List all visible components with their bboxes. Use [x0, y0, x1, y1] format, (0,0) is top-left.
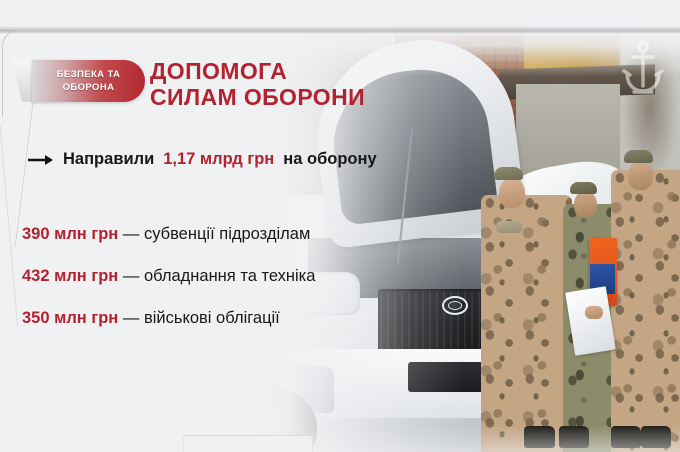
- photo-soldier-3: [611, 170, 680, 452]
- list-item: 432 млн грн — обладнання та техніка: [22, 266, 315, 286]
- infographic-canvas: БЕЗПЕКА ТА ОБОРОНА ДОПОМОГА СИЛАМ ОБОРОН…: [0, 0, 680, 452]
- list-item: 350 млн грн — військові облігації: [22, 308, 315, 328]
- photo-soldier-2-cap: [570, 182, 597, 194]
- page-title-line2: СИЛАМ ОБОРОНИ: [150, 84, 365, 110]
- fact-amount: 390 млн грн: [22, 225, 118, 243]
- lead-amount: 1,17 млрд грн: [163, 150, 274, 169]
- photo-soldier-1-head: [499, 178, 525, 208]
- fact-dash: —: [123, 225, 140, 243]
- lead-suffix: на оборону: [283, 150, 376, 169]
- photo-soldier-1-cap: [494, 167, 523, 180]
- arrow-right-icon: [28, 154, 54, 166]
- list-item: 390 млн грн — субвенції підрозділам: [22, 224, 315, 244]
- fact-dash: —: [123, 309, 140, 327]
- photo-boot: [641, 426, 671, 447]
- fact-description: військові облігації: [144, 309, 280, 327]
- lead-statement: Направили 1,17 млрд грн на оборону: [28, 150, 377, 169]
- photo-soldier-2-head: [574, 191, 597, 218]
- page-title: ДОПОМОГА СИЛАМ ОБОРОНИ: [150, 58, 365, 110]
- lead-prefix: Направили: [63, 150, 154, 169]
- fact-amount: 350 млн грн: [22, 309, 118, 327]
- photo-soldier-1-scarf: [496, 221, 522, 233]
- photo-boot: [524, 426, 554, 447]
- photo-soldier-3-cap: [624, 150, 653, 163]
- photo-hand: [585, 306, 603, 319]
- photo-soldier-1: [481, 195, 572, 452]
- facts-list: 390 млн грн — субвенції підрозділам 432 …: [22, 224, 315, 328]
- fact-description: субвенції підрозділам: [144, 225, 310, 243]
- page-title-line1: ДОПОМОГА: [150, 58, 365, 84]
- badge-pill[interactable]: БЕЗПЕКА ТА ОБОРОНА: [32, 60, 145, 102]
- badge-label-line2: ОБОРОНА: [63, 81, 115, 94]
- anchor-icon: [620, 40, 666, 98]
- fact-description: обладнання та техніка: [144, 267, 315, 285]
- photo-soldier-3-head: [628, 161, 653, 190]
- toyota-emblem-icon: [442, 296, 468, 315]
- fact-amount: 432 млн грн: [22, 267, 118, 285]
- photo-boot: [559, 426, 589, 447]
- fact-dash: —: [123, 267, 140, 285]
- badge-label-line1: БЕЗПЕКА ТА: [57, 68, 121, 81]
- photo-boot: [611, 426, 641, 447]
- corner-accent-top-left: [0, 0, 23, 31]
- bottom-tab-accent: [183, 435, 313, 452]
